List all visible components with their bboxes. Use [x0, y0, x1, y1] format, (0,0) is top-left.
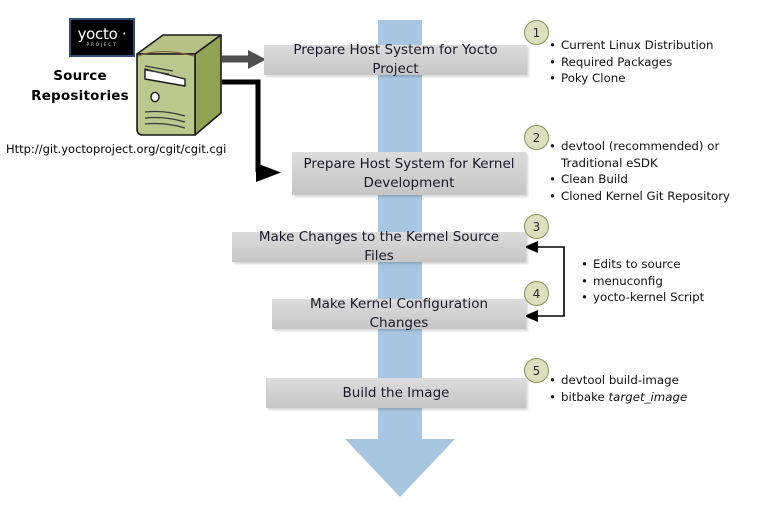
- list-item: Required Packages: [549, 54, 749, 71]
- list-item: devtool build-image: [549, 372, 749, 389]
- list-item: menuconfig: [581, 273, 761, 290]
- list-item: Poky Clone: [549, 70, 749, 87]
- step-marker-2: 2: [524, 125, 549, 150]
- logo-wordmark: yocto ·: [78, 27, 127, 42]
- process-box-make-changes-kernel-source[interactable]: Make Changes to the Kernel Source Files: [232, 232, 526, 262]
- process-box-build-image[interactable]: Build the Image: [266, 378, 526, 408]
- notes-step-2: devtool (recommended) or Traditional eSD…: [549, 138, 749, 204]
- yocto-project-logo: yocto · PROJECT: [69, 18, 135, 57]
- list-item: Edits to source: [581, 256, 761, 273]
- source-repositories-url: Http://git.yoctoproject.org/cgit/cgit.cg…: [6, 142, 226, 156]
- source-label-line2: Repositories: [14, 86, 146, 106]
- source-label-line1: Source: [14, 66, 146, 86]
- list-item: Clean Build: [549, 171, 749, 188]
- list-item: Current Linux Distribution: [549, 37, 749, 54]
- process-box-prepare-host-kernel[interactable]: Prepare Host System for Kernel Developme…: [292, 152, 526, 195]
- list-item: bitbake target_image: [549, 389, 749, 406]
- step-marker-1: 1: [524, 20, 549, 45]
- notes-step-3-4: Edits to source menuconfig yocto-kernel …: [581, 256, 761, 306]
- notes-step-5: devtool build-image bitbake target_image: [549, 372, 749, 405]
- server-icon: [133, 33, 225, 138]
- step-marker-4: 4: [524, 281, 549, 306]
- flow-arrowhead-icon: [343, 437, 457, 499]
- list-item: yocto-kernel Script: [581, 289, 761, 306]
- process-box-make-kernel-config-changes[interactable]: Make Kernel Configuration Changes: [272, 299, 526, 329]
- diagram-canvas: yocto · PROJECT Source Repositories Http…: [0, 0, 769, 517]
- bitbake-target-arg: target_image: [609, 390, 688, 404]
- logo-subtext: PROJECT: [86, 44, 117, 49]
- source-repositories-label: Source Repositories: [14, 66, 146, 106]
- step-marker-5: 5: [524, 358, 549, 383]
- list-item: Cloned Kernel Git Repository: [549, 188, 749, 205]
- process-box-prepare-host-yocto[interactable]: Prepare Host System for Yocto Project: [264, 45, 527, 75]
- list-item: devtool (recommended) or Traditional eSD…: [549, 138, 749, 171]
- notes-step-1: Current Linux Distribution Required Pack…: [549, 37, 749, 87]
- step-marker-3: 3: [524, 214, 549, 239]
- bitbake-command: bitbake: [561, 390, 609, 404]
